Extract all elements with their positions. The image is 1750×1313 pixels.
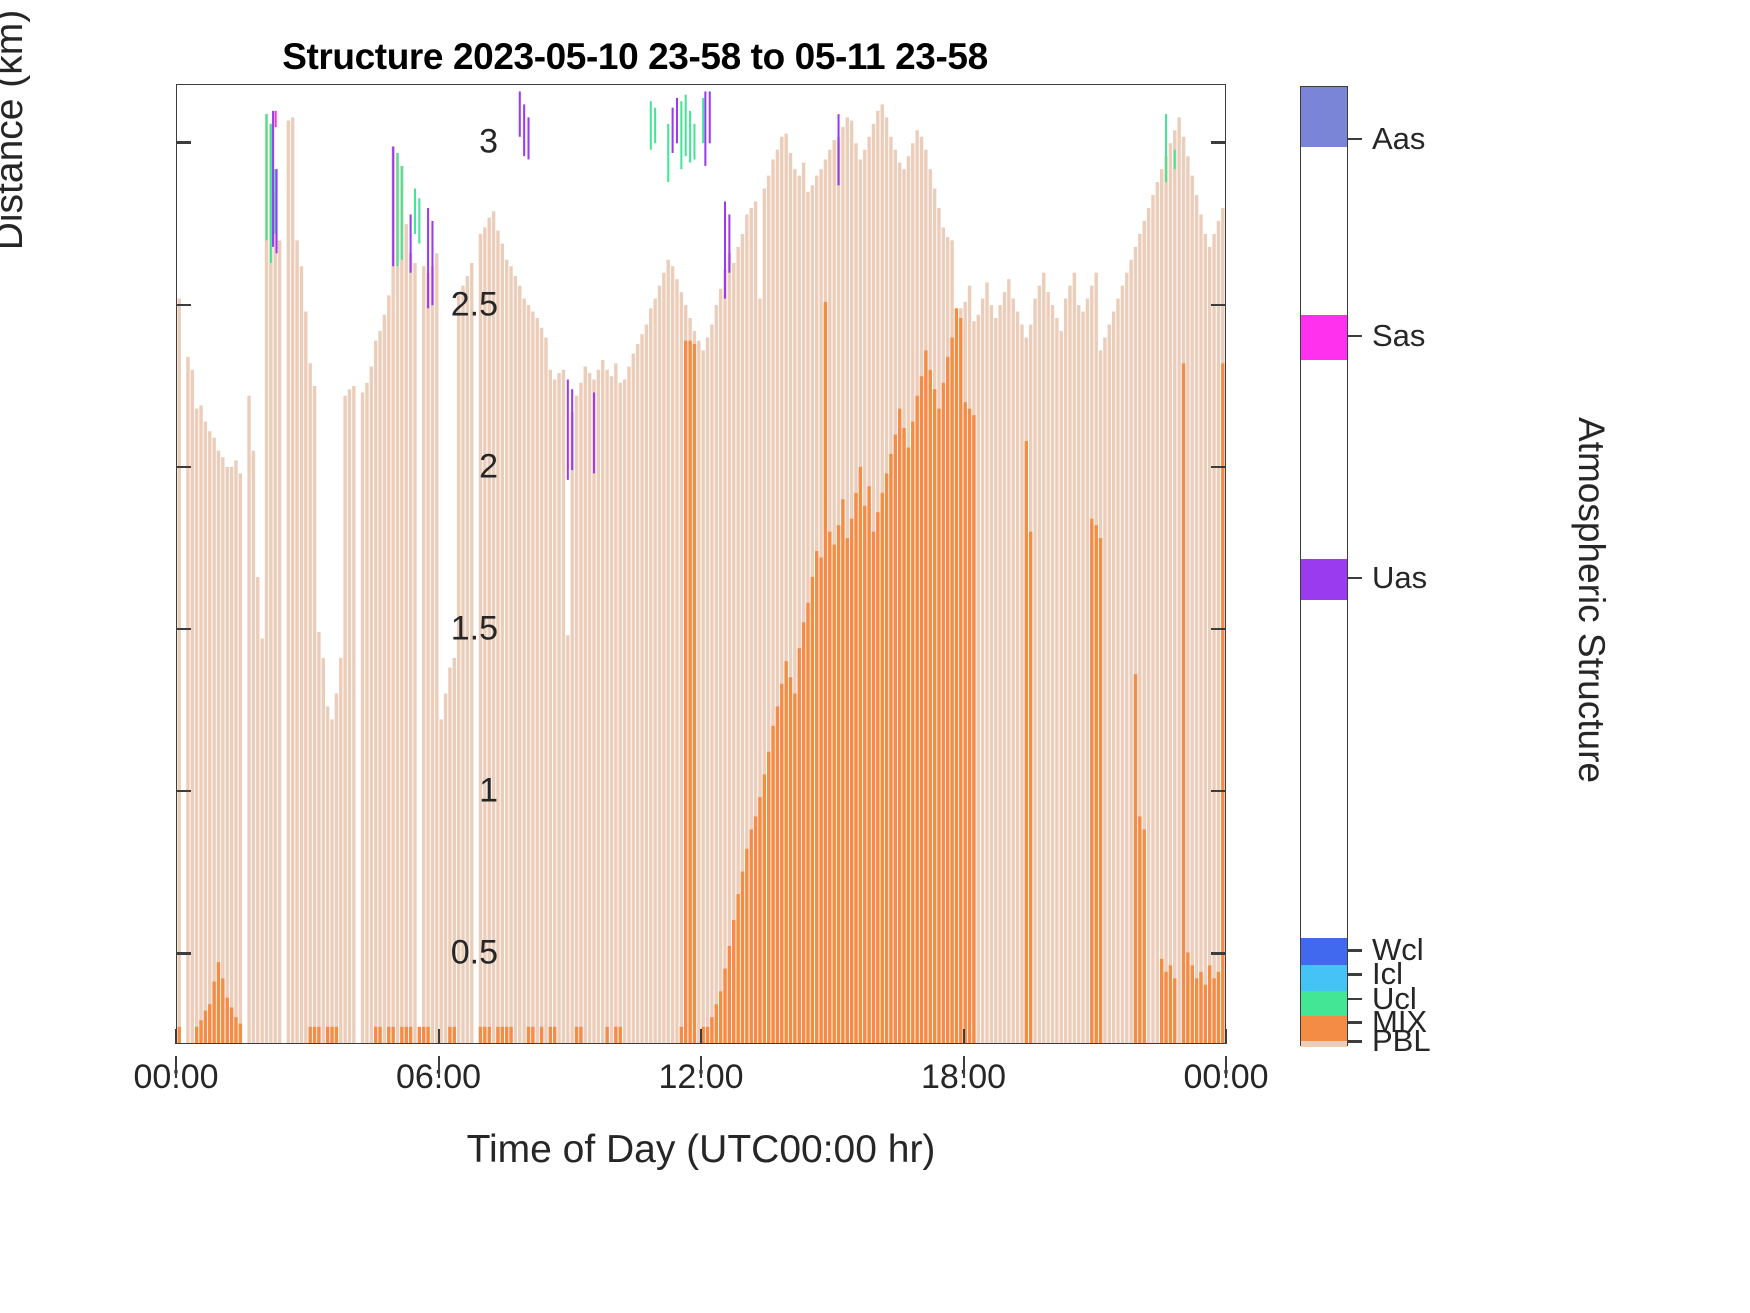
bar-pbl [470, 263, 473, 1043]
colorbar-segment-wcl [1301, 938, 1347, 966]
colorbar-segment-sas [1301, 315, 1347, 359]
bar-mix [1160, 959, 1163, 1043]
bar-pbl [448, 668, 451, 1043]
bar-pbl [322, 658, 325, 1043]
seg-uas [272, 111, 274, 247]
bar-mix [501, 1027, 504, 1043]
bar-mix [1094, 525, 1097, 1043]
ytick-label: 1 [479, 772, 498, 811]
ytick-label: 0.5 [451, 934, 498, 973]
bar-mix [806, 603, 809, 1043]
bar-pbl [1060, 331, 1063, 1043]
bar-mix [841, 499, 844, 1043]
bar-mix [684, 341, 687, 1043]
ytick-mark [1211, 628, 1226, 630]
bar-pbl [186, 357, 189, 1043]
bar-pbl [1208, 247, 1211, 1043]
bar-mix [710, 1017, 713, 1043]
ytick-mark [176, 304, 191, 306]
bar-pbl [1046, 292, 1049, 1043]
bar-pbl [239, 473, 242, 1043]
ytick-mark [1211, 141, 1226, 143]
seg-ucl [693, 124, 695, 160]
seg-ucl [401, 166, 403, 260]
bar-pbl [985, 282, 988, 1043]
bar-pbl [710, 325, 713, 1044]
bar-pbl [623, 380, 626, 1043]
bar-mix [488, 1027, 491, 1043]
bar-pbl [278, 240, 281, 1043]
bar-mix [902, 428, 905, 1043]
seg-uas [672, 108, 674, 153]
bar-mix [1191, 965, 1194, 1043]
seg-uas [724, 202, 726, 299]
bar-pbl [1103, 337, 1106, 1043]
bar-pbl [619, 383, 622, 1043]
bar-mix [815, 551, 818, 1043]
bar-pbl [453, 658, 456, 1043]
ytick-mark [1211, 790, 1226, 792]
bar-mix [1199, 972, 1202, 1043]
bar-mix [819, 558, 822, 1043]
bar-pbl [1160, 169, 1163, 1043]
colorbar-tick-mark [1348, 577, 1362, 580]
bar-mix [885, 473, 888, 1043]
bar-pbl [191, 370, 194, 1043]
bar-pbl [536, 318, 539, 1043]
bar-pbl [444, 693, 447, 1043]
bar-mix [1090, 519, 1093, 1043]
bar-mix [575, 1027, 578, 1043]
bar-pbl [330, 719, 333, 1043]
bar-mix [911, 422, 914, 1043]
bar-pbl [405, 224, 408, 1043]
colorbar [1300, 86, 1348, 1046]
seg-uas [519, 91, 521, 136]
xtick-mark-outer [700, 1056, 702, 1078]
bar-pbl [343, 396, 346, 1043]
bar-pbl [208, 431, 211, 1043]
bar-pbl [308, 363, 311, 1043]
bar-pbl [1038, 286, 1041, 1043]
bar-pbl [706, 337, 709, 1043]
bar-pbl [1055, 318, 1058, 1043]
bar-mix [946, 357, 949, 1043]
bar-mix [715, 1004, 718, 1043]
bar-mix [505, 1027, 508, 1043]
bar-mix [828, 532, 831, 1043]
bar-pbl [1199, 214, 1202, 1043]
colorbar-tick-mark [1348, 335, 1362, 338]
seg-uas [523, 104, 525, 156]
bar-mix [802, 622, 805, 1043]
seg-uas [571, 389, 573, 470]
bar-mix [199, 1020, 202, 1043]
bar-mix [540, 1027, 543, 1043]
bar-pbl [466, 276, 469, 1043]
bar-mix [693, 344, 696, 1043]
ytick-mark [1211, 952, 1226, 954]
bar-pbl [461, 286, 464, 1043]
bar-pbl [1016, 312, 1019, 1043]
bar-mix [400, 1027, 403, 1043]
bar-mix [1099, 538, 1102, 1043]
bar-pbl [1108, 325, 1111, 1044]
bar-mix [872, 532, 875, 1043]
bar-pbl [391, 146, 394, 1043]
seg-ucl [650, 101, 652, 150]
bar-mix [706, 1027, 709, 1043]
seg-ucl [270, 124, 272, 263]
bar-pbl [409, 253, 412, 1043]
bar-pbl [1177, 117, 1180, 1043]
bar-mix [1217, 972, 1220, 1043]
bar-mix [959, 318, 962, 1043]
bar-mix [177, 1027, 180, 1043]
bar-mix [230, 1007, 233, 1043]
bar-mix [619, 1027, 622, 1043]
xtick-mark-outer [1225, 1056, 1227, 1078]
bar-mix [1208, 965, 1211, 1043]
bar-mix [1143, 829, 1146, 1043]
bar-pbl [265, 114, 268, 1043]
bar-mix [754, 816, 757, 1043]
bar-pbl [584, 367, 587, 1043]
bar-pbl [1064, 299, 1067, 1043]
bar-pbl [671, 266, 674, 1043]
xtick-mark-outer [963, 1056, 965, 1078]
bar-mix [859, 467, 862, 1043]
bar-pbl [636, 344, 639, 1043]
bar-pbl [1012, 299, 1015, 1043]
bar-pbl [998, 305, 1001, 1043]
seg-uas [593, 392, 595, 473]
bar-mix [741, 871, 744, 1043]
bar-pbl [1212, 234, 1215, 1043]
bar-mix [335, 1027, 338, 1043]
bar-mix [924, 350, 927, 1043]
bar-pbl [387, 295, 390, 1043]
bar-pbl [304, 312, 307, 1043]
seg-uas [676, 98, 678, 143]
bar-pbl [295, 240, 298, 1043]
bar-pbl [230, 467, 233, 1043]
bar-pbl [601, 360, 604, 1043]
bar-pbl [317, 632, 320, 1043]
bar-pbl [719, 289, 722, 1043]
seg-uas [709, 91, 711, 143]
bar-mix [614, 1027, 617, 1043]
bar-mix [1204, 985, 1207, 1043]
plot-clip [177, 85, 1225, 1043]
bar-pbl [675, 279, 678, 1043]
bar-pbl [1217, 221, 1220, 1043]
colorbar-tick-mark [1348, 949, 1362, 952]
bar-pbl [422, 266, 425, 1043]
xtick-mark [1225, 1029, 1227, 1044]
bar-pbl [588, 373, 591, 1043]
colorbar-tick-mark [1348, 1040, 1362, 1043]
ytick-mark [176, 466, 191, 468]
bar-pbl [575, 396, 578, 1043]
plot-area [176, 84, 1226, 1044]
bar-pbl [426, 273, 429, 1043]
bar-mix [784, 661, 787, 1043]
bar-pbl [439, 719, 442, 1043]
bar-pbl [291, 117, 294, 1043]
bar-mix [496, 1027, 499, 1043]
bar-pbl [627, 367, 630, 1043]
bar-mix [798, 648, 801, 1043]
bar-mix [208, 1004, 211, 1043]
bar-mix [920, 376, 923, 1043]
bar-pbl [177, 299, 180, 1043]
seg-ucl [414, 189, 416, 234]
colorbar-axis-label: Atmospheric Structure [1570, 370, 1612, 830]
colorbar-segment-pbl [1301, 1041, 1347, 1047]
bar-mix [453, 1027, 456, 1043]
colorbar-segment-uas [1301, 559, 1347, 599]
bar-pbl [1204, 234, 1207, 1043]
bar-mix [907, 447, 910, 1043]
seg-uas [728, 214, 730, 272]
bar-pbl [527, 305, 530, 1043]
seg-ucl [265, 114, 267, 240]
bar-series-canvas [177, 85, 1225, 1043]
xtick-mark [175, 1029, 177, 1044]
bar-pbl [579, 383, 582, 1043]
page-title: Structure 2023-05-10 23-58 to 05-11 23-5… [0, 36, 1270, 78]
bar-pbl [1068, 286, 1071, 1043]
bar-pbl [977, 315, 980, 1043]
bar-pbl [1173, 130, 1176, 1043]
colorbar-label-uas: Uas [1372, 560, 1427, 596]
seg-sas [275, 111, 277, 127]
bar-mix [326, 1027, 329, 1043]
bar-mix [479, 1027, 482, 1043]
bar-pbl [1081, 312, 1084, 1043]
bar-mix [239, 1024, 242, 1043]
bar-mix [509, 1027, 512, 1043]
bar-pbl [1086, 299, 1089, 1043]
bar-mix [1029, 532, 1032, 1043]
seg-ucl [396, 153, 398, 266]
bar-mix [605, 1027, 608, 1043]
ytick-label: 2.5 [451, 285, 498, 324]
seg-uas [410, 214, 412, 272]
ytick-label: 2 [479, 447, 498, 486]
seg-ucl [685, 95, 687, 156]
bar-mix [824, 302, 827, 1043]
bar-mix [195, 1027, 198, 1043]
bar-pbl [274, 192, 277, 1043]
bar-pbl [570, 412, 573, 1043]
seg-uas [276, 169, 278, 253]
bar-pbl [234, 460, 237, 1043]
bar-mix [217, 962, 220, 1043]
y-axis-label: Distance (km) [0, 0, 32, 390]
bar-mix [1186, 952, 1189, 1043]
bar-mix [793, 693, 796, 1043]
xtick-mark-outer [175, 1056, 177, 1078]
bar-pbl [566, 635, 569, 1043]
bar-mix [374, 1027, 377, 1043]
bar-mix [579, 1027, 582, 1043]
colorbar-tick-mark [1348, 1021, 1362, 1024]
bar-pbl [374, 341, 377, 1043]
bar-mix [876, 512, 879, 1043]
bar-mix [811, 577, 814, 1043]
bar-pbl [370, 367, 373, 1043]
bar-pbl [1116, 299, 1119, 1043]
bar-pbl [522, 299, 525, 1043]
bar-pbl [645, 325, 648, 1044]
bar-mix [776, 706, 779, 1043]
ytick-mark [1211, 304, 1226, 306]
colorbar-segment-aas [1301, 87, 1347, 147]
bar-pbl [1112, 312, 1115, 1043]
bar-pbl [505, 260, 508, 1043]
bar-pbl [300, 266, 303, 1043]
xtick-mark-outer [438, 1056, 440, 1078]
bar-mix [1173, 978, 1176, 1043]
bar-mix [221, 978, 224, 1043]
bar-pbl [348, 389, 351, 1043]
bar-pbl [221, 457, 224, 1043]
bar-pbl [701, 350, 704, 1043]
bar-pbl [653, 299, 656, 1043]
bar-mix [837, 525, 840, 1043]
bar-mix [1212, 978, 1215, 1043]
bar-mix [942, 383, 945, 1043]
ytick-mark [1211, 466, 1226, 468]
x-axis-label: Time of Day (UTC00:00 hr) [176, 1128, 1226, 1172]
bar-pbl [339, 658, 342, 1043]
bar-pbl [260, 638, 263, 1043]
bar-pbl [509, 266, 512, 1043]
bar-mix [680, 1027, 683, 1043]
bar-pbl [540, 328, 543, 1043]
bar-pbl [361, 392, 364, 1043]
seg-uas [392, 146, 394, 266]
bar-mix [549, 1027, 552, 1043]
bar-pbl [697, 341, 700, 1043]
bar-mix [968, 409, 971, 1043]
seg-ucl [654, 108, 656, 144]
bar-pbl [1129, 260, 1132, 1043]
bar-mix [832, 545, 835, 1043]
xtick-mark [438, 1029, 440, 1044]
bar-mix [426, 1027, 429, 1043]
bar-mix [1169, 965, 1172, 1043]
colorbar-segment-icl [1301, 965, 1347, 991]
bar-pbl [605, 370, 608, 1043]
colorbar-tick-mark [1348, 138, 1362, 141]
bar-mix [483, 1027, 486, 1043]
bar-pbl [378, 331, 381, 1043]
seg-ucl [1165, 114, 1167, 182]
bar-pbl [1186, 156, 1189, 1043]
bar-mix [863, 506, 866, 1043]
bar-mix [898, 409, 901, 1043]
bar-pbl [431, 266, 434, 1043]
bar-pbl [592, 380, 595, 1043]
seg-ucl [689, 111, 691, 163]
bar-mix [771, 726, 774, 1043]
bar-pbl [632, 354, 635, 1043]
bar-pbl [610, 376, 613, 1043]
bar-mix [1138, 816, 1141, 1043]
ytick-label: 3 [479, 123, 498, 162]
bar-pbl [994, 318, 997, 1043]
bar-mix [409, 1027, 412, 1043]
bar-pbl [553, 380, 556, 1043]
bar-mix [204, 1011, 207, 1043]
bar-pbl [1164, 156, 1167, 1043]
xtick-mark [700, 1029, 702, 1044]
bar-pbl [990, 305, 993, 1043]
ytick-mark [176, 790, 191, 792]
bar-mix [937, 409, 940, 1043]
bar-mix [1195, 978, 1198, 1043]
bar-mix [308, 1027, 311, 1043]
bar-pbl [1151, 195, 1154, 1043]
bar-pbl [501, 244, 504, 1043]
colorbar-label-sas: Sas [1372, 318, 1425, 354]
bar-mix [846, 538, 849, 1043]
bar-mix [387, 1027, 390, 1043]
bar-mix [317, 1027, 320, 1043]
bar-mix [972, 415, 975, 1043]
bar-mix [1025, 441, 1028, 1043]
bar-pbl [514, 276, 517, 1043]
seg-uas [431, 221, 433, 305]
bar-mix [767, 752, 770, 1043]
seg-ucl [702, 98, 704, 143]
bar-pbl [518, 286, 521, 1043]
bar-mix [422, 1027, 425, 1043]
bar-mix [950, 337, 953, 1043]
bar-mix [732, 920, 735, 1043]
bar-pbl [658, 286, 661, 1043]
bar-pbl [413, 263, 416, 1043]
bar-pbl [715, 305, 718, 1043]
bar-mix [963, 402, 966, 1043]
bar-mix [745, 849, 748, 1043]
bar-mix [789, 677, 792, 1043]
colorbar-segment-ucl [1301, 991, 1347, 1016]
seg-uas [567, 380, 569, 480]
colorbar-tick-mark [1348, 998, 1362, 1001]
bar-mix [527, 1027, 530, 1043]
bar-pbl [981, 299, 984, 1043]
bar-pbl [1033, 299, 1036, 1043]
bar-mix [234, 1017, 237, 1043]
bar-mix [553, 1027, 556, 1043]
bar-pbl [1169, 143, 1172, 1043]
bar-pbl [1147, 208, 1150, 1043]
bar-mix [894, 435, 897, 1043]
bar-mix [889, 454, 892, 1043]
bar-pbl [557, 373, 560, 1043]
bar-pbl [247, 396, 250, 1043]
bar-pbl [365, 383, 368, 1043]
ytick-mark [176, 141, 191, 143]
seg-ucl [418, 198, 420, 243]
bar-pbl [544, 337, 547, 1043]
bar-mix [405, 1027, 408, 1043]
bar-pbl [680, 292, 683, 1043]
